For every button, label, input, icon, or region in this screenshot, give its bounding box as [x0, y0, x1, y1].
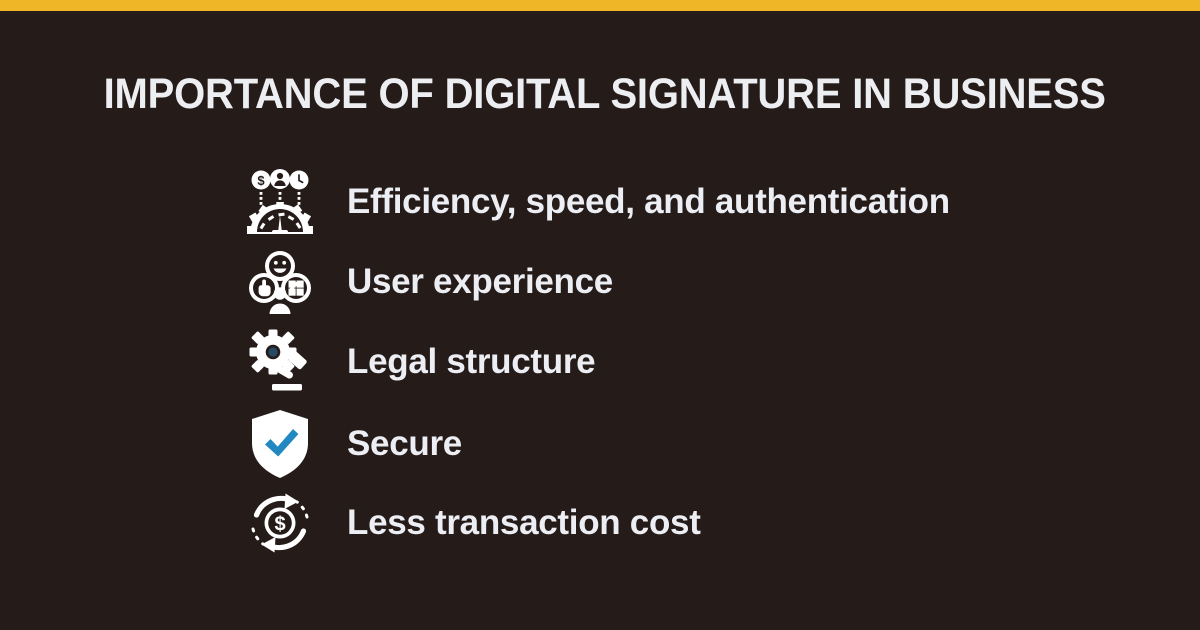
- efficiency-gauge-icon: $: [236, 163, 324, 241]
- user-experience-icon: [236, 243, 324, 321]
- list-item: Legal structure: [236, 322, 1136, 402]
- svg-text:$: $: [274, 514, 285, 536]
- list-item-label: Legal structure: [347, 342, 595, 382]
- list-item-label: Secure: [347, 424, 462, 464]
- list-item-label: Efficiency, speed, and authentication: [347, 182, 950, 222]
- shield-check-icon: [236, 405, 324, 483]
- list-item-label: User experience: [347, 262, 613, 302]
- benefits-list: $: [236, 162, 1136, 560]
- svg-text:$: $: [257, 173, 265, 188]
- top-accent-bar: [0, 0, 1200, 11]
- list-item: $: [236, 162, 1136, 242]
- list-item: User experience: [236, 242, 1136, 322]
- list-item: $ Less transaction cost: [236, 486, 1136, 560]
- list-item-label: Less transaction cost: [347, 503, 701, 543]
- legal-gear-gavel-icon: [236, 323, 324, 401]
- money-transfer-cycle-icon: $: [236, 484, 324, 562]
- page-title: IMPORTANCE OF DIGITAL SIGNATURE IN BUSIN…: [42, 69, 1158, 119]
- infographic-slide: IMPORTANCE OF DIGITAL SIGNATURE IN BUSIN…: [0, 0, 1200, 630]
- list-item: Secure: [236, 402, 1136, 486]
